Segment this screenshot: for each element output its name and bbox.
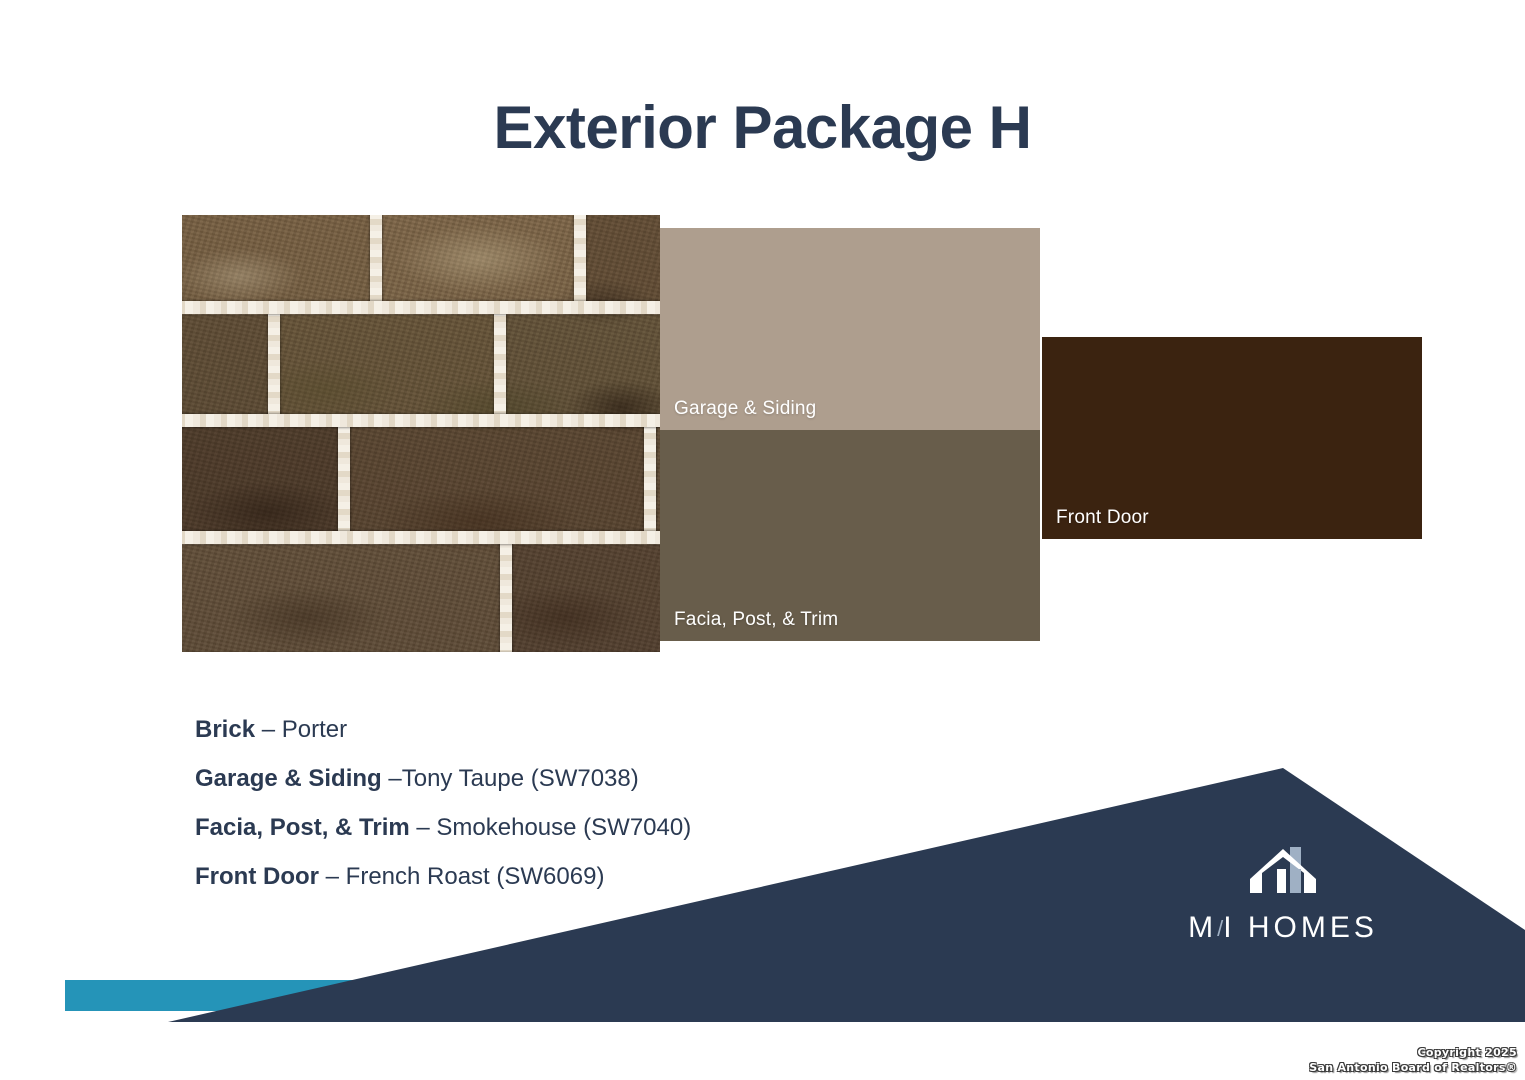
- mi-homes-logo: M/I HOMES: [1168, 845, 1398, 960]
- mortar-joint-horizontal: [182, 531, 660, 544]
- mortar-joint-vertical: [644, 420, 656, 540]
- legend-label: Front Door: [195, 863, 319, 890]
- brick-face: [278, 315, 498, 420]
- brick-face: [346, 427, 646, 537]
- copyright-line-1: Copyright 2025: [1309, 1046, 1517, 1061]
- brick-face: [182, 315, 272, 420]
- brick-face: [378, 215, 576, 301]
- mortar-joint-vertical: [370, 215, 382, 307]
- copyright-line-2: San Antonio Board of Realtors®: [1309, 1061, 1517, 1076]
- mortar-joint-vertical: [268, 308, 280, 423]
- legend-label: Brick: [195, 716, 255, 743]
- brick-face: [182, 215, 372, 301]
- mortar-joint-horizontal: [182, 414, 660, 427]
- brick-face: [508, 545, 660, 652]
- mi-homes-wordmark: M/I HOMES: [1168, 911, 1398, 945]
- swatch-brick-photo: [182, 215, 660, 652]
- page-title: Exterior Package H: [0, 96, 1525, 159]
- mortar-joint-vertical: [494, 308, 506, 423]
- slide-canvas: Exterior Package H Garage: [0, 0, 1525, 1080]
- mortar-joint-horizontal: [182, 301, 660, 314]
- swatch-front-door: Front Door: [1042, 337, 1422, 539]
- legend-value: –Tony Taupe (SW7038): [382, 765, 639, 792]
- color-legend-list: Brick – Porter Garage & Siding –Tony Tau…: [195, 718, 955, 914]
- copyright-notice: Copyright 2025 San Antonio Board of Real…: [1309, 1046, 1517, 1076]
- brand-i-homes: I HOMES: [1223, 911, 1378, 944]
- legend-item-brick: Brick – Porter: [195, 718, 955, 742]
- brand-m: M: [1188, 911, 1217, 944]
- mortar-joint-vertical: [500, 537, 512, 652]
- legend-value: – Porter: [255, 716, 347, 743]
- brick-face: [182, 427, 342, 537]
- legend-value: – French Roast (SW6069): [319, 863, 604, 890]
- swatch-garage-and-siding: Garage & Siding: [660, 228, 1040, 430]
- house-icon: [1246, 845, 1320, 907]
- brick-face: [504, 315, 660, 420]
- legend-item-garage-and-siding: Garage & Siding –Tony Taupe (SW7038): [195, 767, 955, 791]
- mortar-joint-vertical: [574, 215, 586, 307]
- legend-item-front-door: Front Door – French Roast (SW6069): [195, 865, 955, 889]
- teal-accent-bar: [65, 980, 945, 1011]
- mortar-joint-vertical: [338, 420, 350, 540]
- brick-face: [582, 215, 660, 301]
- legend-value: – Smokehouse (SW7040): [410, 814, 691, 841]
- legend-label: Garage & Siding: [195, 765, 382, 792]
- brand-slash: /: [1217, 916, 1223, 942]
- swatch-label-garage-and-siding: Garage & Siding: [674, 398, 816, 420]
- legend-item-facia-post-trim: Facia, Post, & Trim – Smokehouse (SW7040…: [195, 816, 955, 840]
- swatch-facia-post-trim: Facia, Post, & Trim: [660, 430, 1040, 641]
- brick-face: [182, 545, 502, 652]
- legend-label: Facia, Post, & Trim: [195, 814, 410, 841]
- swatch-label-front-door: Front Door: [1056, 507, 1149, 529]
- swatch-label-facia-post-trim: Facia, Post, & Trim: [674, 609, 838, 631]
